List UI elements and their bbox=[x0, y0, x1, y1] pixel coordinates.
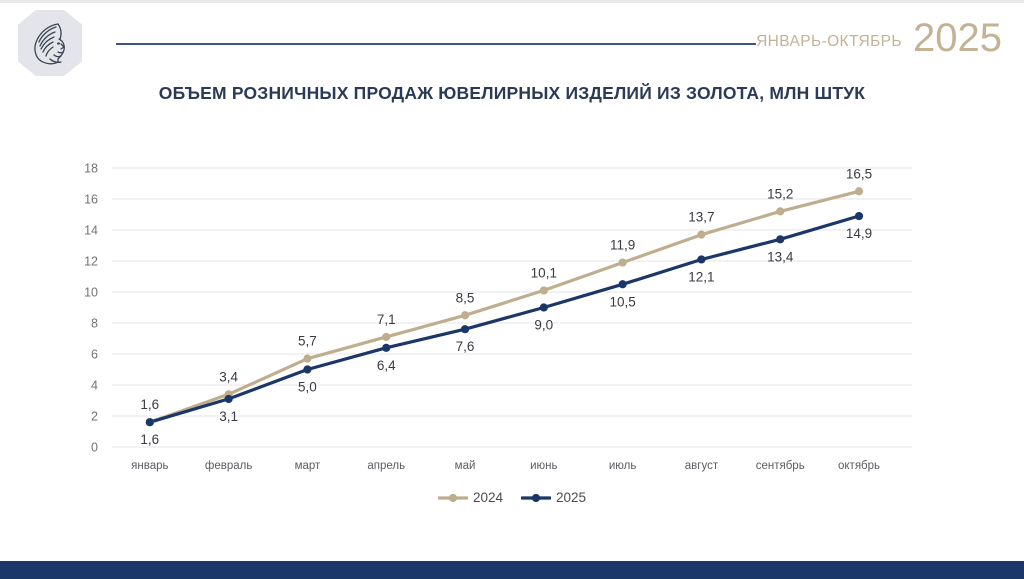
data-label-2025: 13,4 bbox=[767, 249, 794, 264]
y-axis-tick-label: 10 bbox=[84, 286, 98, 300]
x-axis-tick-label: июнь bbox=[530, 460, 557, 472]
series-point-2025 bbox=[382, 344, 390, 352]
series-point-2025 bbox=[303, 365, 311, 373]
brand-logo-badge bbox=[18, 10, 82, 76]
y-axis-tick-label: 8 bbox=[91, 317, 98, 331]
series-point-2025 bbox=[619, 280, 627, 288]
series-point-2025 bbox=[461, 325, 469, 333]
series-point-2025 bbox=[225, 395, 233, 403]
legend-label: 2024 bbox=[473, 490, 503, 505]
y-axis-tick-label: 0 bbox=[91, 441, 98, 455]
chart-data-labels: 1,63,45,77,18,510,111,913,715,216,51,63,… bbox=[140, 166, 872, 447]
series-point-2024 bbox=[697, 231, 705, 239]
x-axis-tick-label: март bbox=[295, 460, 321, 472]
data-label-2025: 12,1 bbox=[688, 269, 714, 284]
x-axis-tick-label: январь bbox=[131, 460, 168, 472]
x-axis-tick-label: апрель bbox=[367, 460, 405, 472]
y-axis-tick-label: 2 bbox=[91, 410, 98, 424]
data-label-2025: 1,6 bbox=[140, 432, 159, 447]
data-label-2025: 3,1 bbox=[219, 409, 238, 424]
data-label-2024: 1,6 bbox=[140, 397, 159, 412]
data-label-2025: 9,0 bbox=[534, 318, 553, 333]
series-point-2024 bbox=[540, 286, 548, 294]
data-label-2025: 10,5 bbox=[609, 294, 635, 309]
y-axis-tick-label: 6 bbox=[91, 348, 98, 362]
x-axis-tick-label: август bbox=[685, 460, 719, 472]
data-label-2024: 13,7 bbox=[688, 210, 714, 225]
y-axis-tick-labels: 024681012141618 bbox=[84, 162, 98, 455]
data-label-2025: 5,0 bbox=[298, 380, 317, 395]
series-point-2025 bbox=[697, 255, 705, 263]
series-point-2025 bbox=[776, 235, 784, 243]
legend-swatch-icon bbox=[438, 492, 468, 504]
header-period-label: ЯНВАРЬ-ОКТЯБРЬ bbox=[756, 33, 902, 51]
y-axis-tick-label: 18 bbox=[84, 162, 98, 176]
series-point-2025 bbox=[146, 418, 154, 426]
header-year-label: 2025 bbox=[913, 18, 1002, 58]
data-label-2024: 16,5 bbox=[846, 166, 872, 181]
data-label-2025: 7,6 bbox=[456, 339, 475, 354]
x-axis-tick-label: сентябрь bbox=[756, 460, 805, 472]
line-chart: 024681012141618 январьфевральмартапрельм… bbox=[0, 130, 1024, 520]
data-label-2024: 11,9 bbox=[610, 238, 635, 253]
legend-swatch-icon bbox=[521, 492, 551, 504]
classical-head-profile-logo-icon bbox=[28, 19, 72, 67]
series-point-2024 bbox=[855, 187, 863, 195]
y-axis-tick-label: 14 bbox=[84, 224, 98, 238]
series-point-2024 bbox=[619, 258, 627, 266]
x-axis-tick-labels: январьфевральмартапрельмайиюньиюльавгуст… bbox=[131, 460, 880, 472]
data-label-2024: 10,1 bbox=[531, 265, 557, 280]
data-label-2025: 6,4 bbox=[377, 358, 396, 373]
y-axis-tick-label: 12 bbox=[84, 255, 98, 269]
x-axis-tick-label: октябрь bbox=[838, 460, 880, 472]
chart-legend: 20242025 bbox=[0, 490, 1024, 505]
series-line-2025 bbox=[150, 216, 859, 422]
series-point-2025 bbox=[855, 212, 863, 220]
data-label-2024: 15,2 bbox=[767, 186, 793, 201]
legend-item-2024[interactable]: 2024 bbox=[438, 490, 503, 505]
data-label-2024: 3,4 bbox=[219, 369, 238, 384]
data-label-2024: 8,5 bbox=[456, 290, 475, 305]
series-point-2025 bbox=[540, 303, 548, 311]
page-title: ОБЪЕМ РОЗНИЧНЫХ ПРОДАЖ ЮВЕЛИРНЫХ ИЗДЕЛИЙ… bbox=[0, 83, 1024, 104]
x-axis-tick-label: февраль bbox=[205, 460, 252, 472]
legend-item-2025[interactable]: 2025 bbox=[521, 490, 586, 505]
series-point-2024 bbox=[461, 311, 469, 319]
x-axis-tick-label: июль bbox=[609, 460, 637, 472]
header-divider-rule bbox=[116, 43, 756, 45]
data-label-2024: 5,7 bbox=[298, 334, 317, 349]
page-header: ЯНВАРЬ-ОКТЯБРЬ 2025 bbox=[0, 0, 1024, 80]
series-point-2024 bbox=[303, 355, 311, 363]
y-axis-tick-label: 16 bbox=[84, 193, 98, 207]
x-axis-tick-label: май bbox=[455, 460, 476, 472]
series-point-2024 bbox=[776, 207, 784, 215]
chart-series-lines bbox=[150, 191, 859, 422]
y-axis-tick-label: 4 bbox=[91, 379, 98, 393]
series-point-2024 bbox=[382, 333, 390, 341]
data-label-2024: 7,1 bbox=[377, 312, 396, 327]
footer-bar bbox=[0, 561, 1024, 579]
data-label-2025: 14,9 bbox=[846, 226, 872, 241]
legend-label: 2025 bbox=[556, 490, 586, 505]
